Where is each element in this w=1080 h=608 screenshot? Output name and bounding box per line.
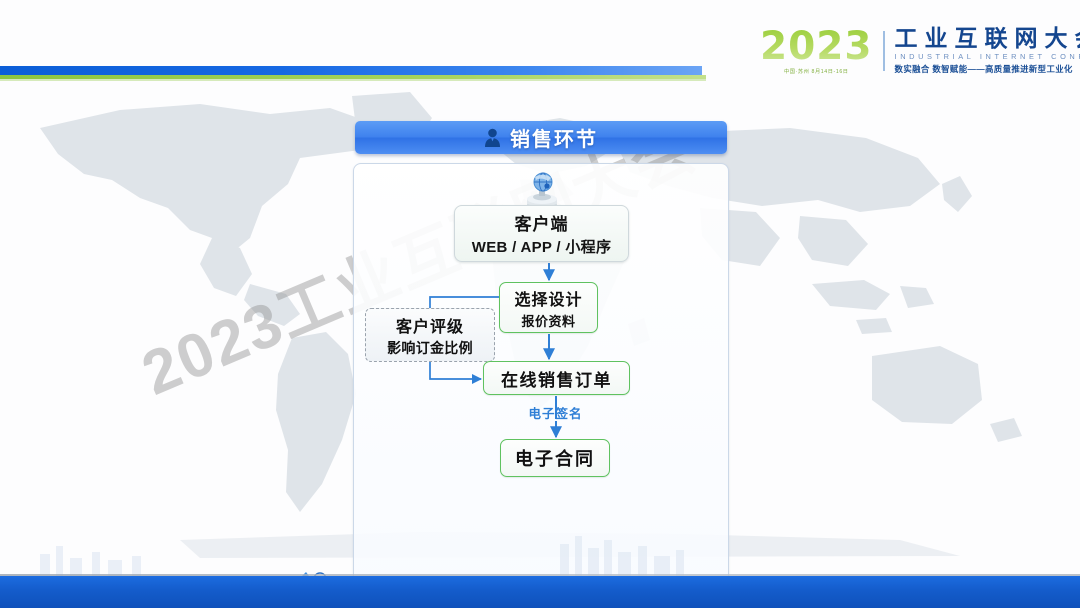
logo-divider (883, 31, 885, 71)
flow-node-order-line1: 在线销售订单 (501, 366, 612, 391)
section-title-text: 销售环节 (510, 123, 598, 152)
flow-node-rating-line2: 影响订金比例 (387, 338, 473, 358)
flow-node-client[interactable]: 客户端 WEB / APP / 小程序 (454, 205, 629, 262)
logo-year: 2023 (760, 27, 873, 66)
flow-node-design[interactable]: 选择设计 报价资料 (499, 282, 598, 333)
slide-canvas: 2023 中国·苏州 8月14日-16日 工业互联网大会 INDUSTRIAL … (0, 0, 1080, 608)
flow-node-customer-rating[interactable]: 客户评级 影响订金比例 (365, 308, 495, 362)
flow-edge-label-signature: 电子签名 (503, 403, 608, 422)
flow-node-e-contract[interactable]: 电子合同 (500, 439, 610, 477)
flow-node-client-line1: 客户端 (515, 210, 569, 235)
section-title-bar: 销售环节 (355, 121, 727, 154)
logo-year-subtitle: 中国·苏州 8月14日-16日 (760, 68, 873, 75)
header-rule-blue (0, 66, 702, 75)
person-icon (484, 128, 501, 147)
logo-name-en: INDUSTRIAL INTERNET CONFERENCE (895, 52, 1080, 61)
flow-node-contract-line1: 电子合同 (515, 445, 595, 471)
logo-slogan: 数实融合 数智赋能——高质量推进新型工业化 (895, 63, 1080, 75)
footer-bar (0, 576, 1080, 608)
logo-text-block: 工业互联网大会 INDUSTRIAL INTERNET CONFERENCE 数… (895, 26, 1080, 75)
flow-node-design-line1: 选择设计 (514, 286, 582, 310)
header-rule-green-fade (0, 79, 706, 81)
logo-year-block: 2023 中国·苏州 8月14日-16日 (760, 27, 873, 75)
flow-node-online-order[interactable]: 在线销售订单 (483, 361, 630, 395)
conference-logo: 2023 中国·苏州 8月14日-16日 工业互联网大会 INDUSTRIAL … (760, 26, 1080, 75)
flow-node-client-line2: WEB / APP / 小程序 (472, 236, 612, 257)
flow-node-design-line2: 报价资料 (521, 311, 575, 330)
logo-name-cn: 工业互联网大会 (895, 26, 1080, 50)
flow-node-rating-line1: 客户评级 (396, 313, 464, 337)
sales-flow-diagram: 客户端 WEB / APP / 小程序 选择设计 报价资料 客户评级 影响订金比… (353, 163, 727, 583)
